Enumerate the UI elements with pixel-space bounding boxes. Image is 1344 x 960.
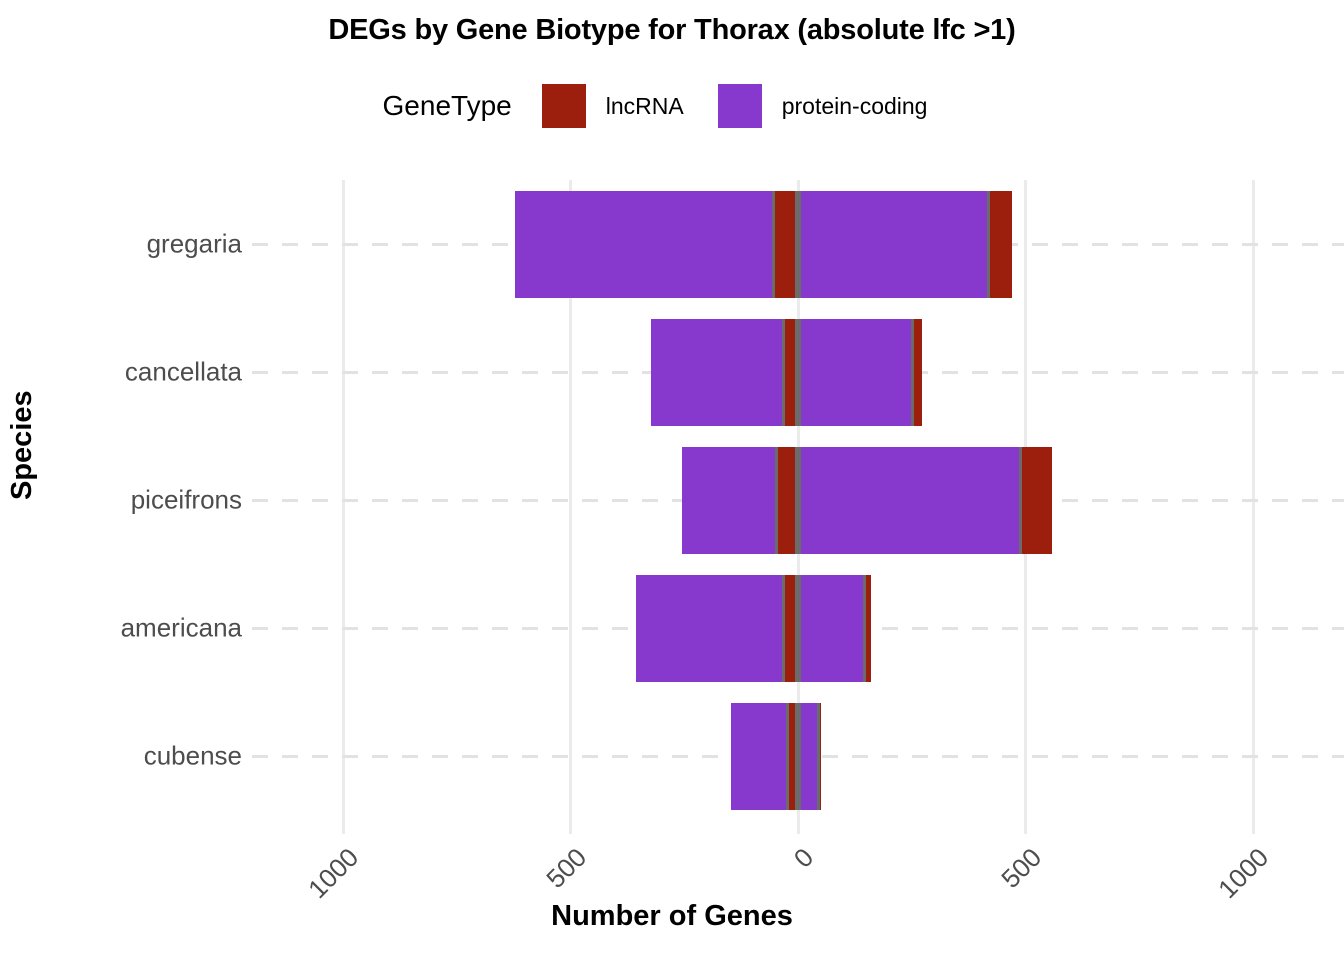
x-tick-mark bbox=[797, 820, 800, 834]
bar-segment bbox=[515, 191, 776, 298]
chart-title: DEGs by Gene Biotype for Thorax (absolut… bbox=[0, 14, 1344, 47]
legend-label-lncrna: lncRNA bbox=[606, 93, 684, 120]
y-axis-title: Species bbox=[6, 390, 39, 500]
bar-segment bbox=[778, 447, 798, 554]
bar-segment bbox=[1019, 447, 1053, 554]
legend-label-protein-coding: protein-coding bbox=[782, 93, 928, 120]
bar-segment bbox=[731, 703, 790, 810]
bar-segment bbox=[775, 191, 798, 298]
x-tick-mark bbox=[569, 820, 572, 834]
legend-key-protein-coding: protein-coding bbox=[718, 84, 962, 128]
legend-key-lncrna: lncRNA bbox=[542, 84, 718, 128]
x-tick-mark bbox=[1024, 820, 1027, 834]
bar-segment bbox=[636, 575, 785, 682]
plot-panel: gregariacancellatapiceifronsamericanacub… bbox=[252, 180, 1344, 820]
y-tick-label-americana: americana bbox=[121, 613, 242, 644]
bar-segment bbox=[798, 191, 987, 298]
x-tick-mark bbox=[1252, 820, 1255, 834]
x-tick-mark bbox=[342, 820, 345, 834]
bar-segment bbox=[817, 703, 822, 810]
bar-segment bbox=[651, 319, 785, 426]
bar-segment bbox=[798, 319, 911, 426]
y-tick-label-cubense: cubense bbox=[144, 741, 242, 772]
y-tick-label-cancellata: cancellata bbox=[125, 357, 242, 388]
legend-swatch-protein-coding bbox=[718, 84, 762, 128]
bar-segment bbox=[987, 191, 1012, 298]
bar-segment bbox=[798, 703, 817, 810]
legend: GeneType lncRNA protein-coding bbox=[0, 84, 1344, 128]
legend-swatch-lncrna bbox=[542, 84, 586, 128]
bar-segment bbox=[798, 447, 1019, 554]
bar-segment bbox=[798, 575, 863, 682]
legend-title: GeneType bbox=[383, 90, 512, 122]
bar-segment bbox=[785, 575, 798, 682]
y-tick-label-piceifrons: piceifrons bbox=[131, 485, 242, 516]
bar-segment bbox=[911, 319, 922, 426]
bar-segment bbox=[789, 703, 798, 810]
y-tick-label-gregaria: gregaria bbox=[147, 229, 242, 260]
bar-segment bbox=[863, 575, 871, 682]
bar-segment bbox=[682, 447, 778, 554]
bar-segment bbox=[785, 319, 798, 426]
x-axis-title: Number of Genes bbox=[0, 900, 1344, 933]
